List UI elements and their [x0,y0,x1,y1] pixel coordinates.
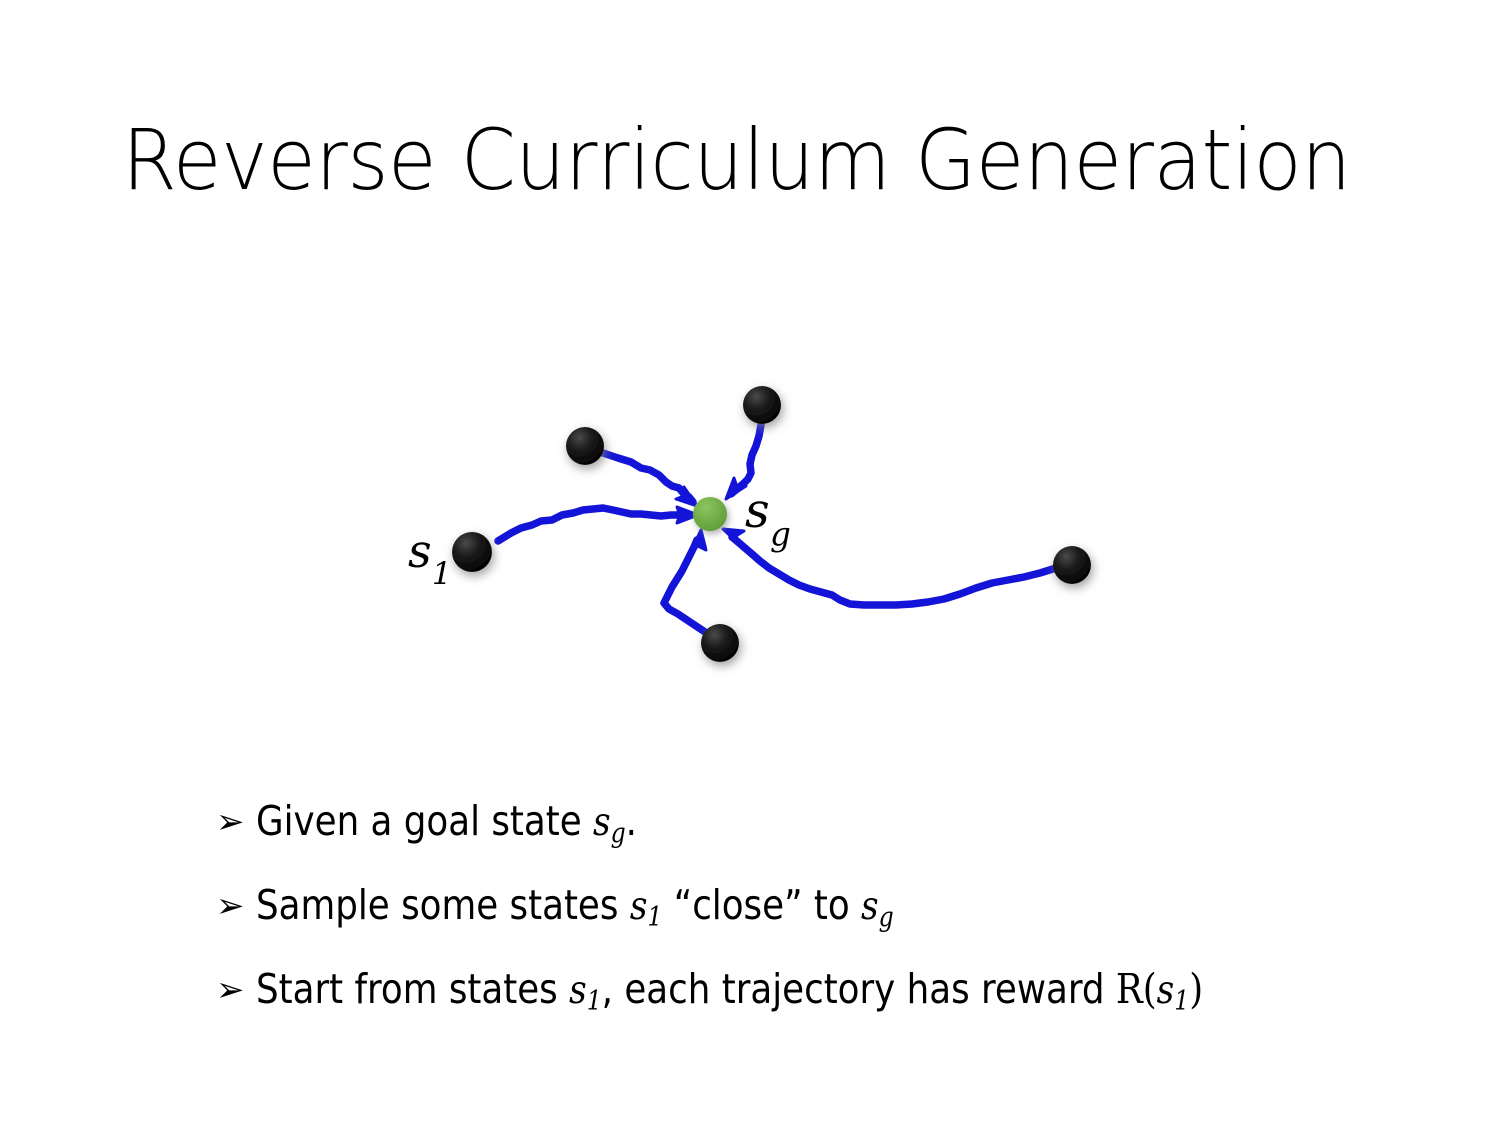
trajectory-s1 [498,508,688,541]
bullet-text: Sample some states s1 “close” to sg [256,882,894,934]
arrow-bullet-icon: ➢ [216,883,245,929]
start-node-upper-left [566,427,604,465]
bullet-list: ➢ Given a goal state sg. ➢ Sample some s… [216,798,1456,1050]
label-s1: s1 [408,528,452,583]
page-title: Reverse Curriculum Generation [122,118,1306,202]
bullet-start-from-states: ➢ Start from states s1, each trajectory … [216,966,1456,1018]
bullet-text: Given a goal state sg. [256,798,637,850]
start-node-s1 [452,532,492,572]
label-sg-subscript: g [770,515,791,553]
trajectory-upper-left [603,453,693,502]
trajectory-bottom-arrowhead [691,530,706,551]
label-sg-symbol: s [745,483,770,539]
start-node-bottom [701,624,739,662]
label-sg: sg [745,487,791,543]
start-node-right [1053,546,1091,584]
arrow-bullet-icon: ➢ [216,799,245,845]
bullet-given-goal-state: ➢ Given a goal state sg. [216,798,1456,850]
bullet-sample-states: ➢ Sample some states s1 “close” to sg [216,882,1456,934]
trajectory-bottom [664,540,715,639]
trajectory-right-arrowhead [723,529,744,545]
trajectory-upper-left-arrowhead [676,487,697,506]
goal-node [693,497,727,531]
trajectory-s1-arrowhead [677,507,698,523]
trajectory-top-right-arrowhead [726,478,746,499]
arrow-bullet-icon: ➢ [216,967,245,1013]
label-s1-subscript: 1 [432,556,452,592]
bullet-text: Start from states s1, each trajectory ha… [256,966,1203,1018]
label-s1-symbol: s [408,524,432,578]
start-node-top-right [743,386,781,424]
